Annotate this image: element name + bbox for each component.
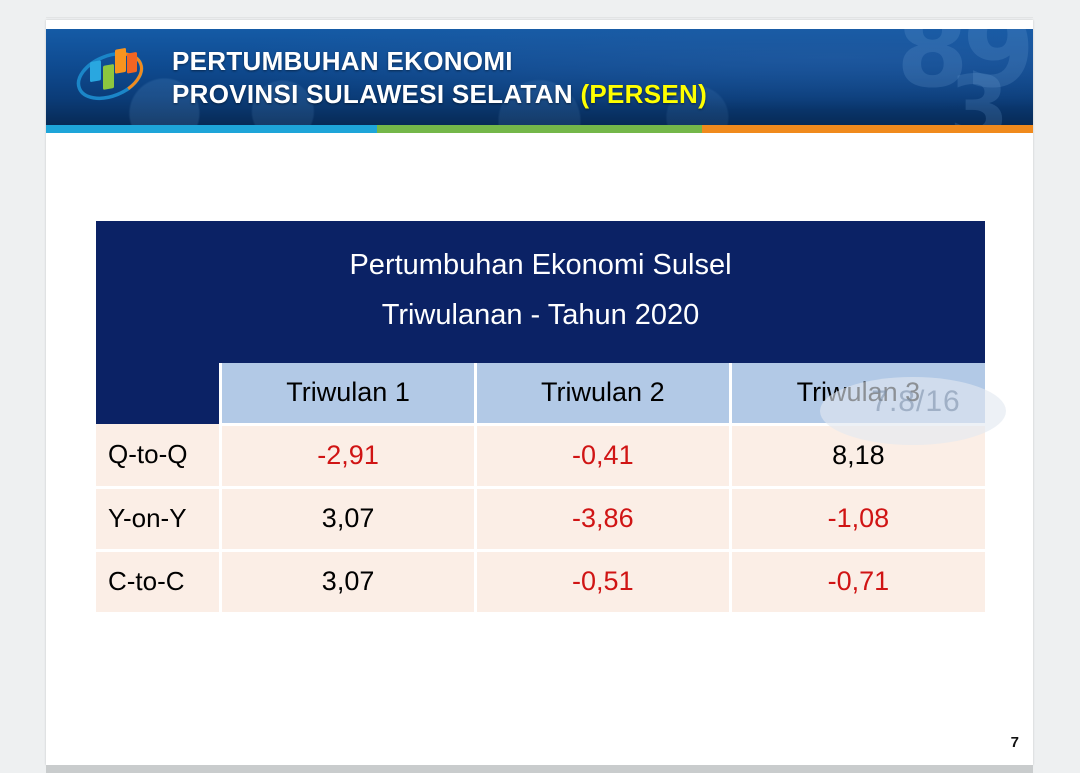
slide-viewer: 89 3 PERTUMBUHAN EKONOMI PROVINSI SULAWE… [0, 0, 1080, 773]
row-label-c-to-c: C-to-C [96, 550, 221, 613]
cell-q-to-q-triwulan-1: -2,91 [221, 424, 476, 487]
table-row: C-to-C 3,07 -0,51 -0,71 [96, 550, 985, 613]
table-corner-cell [96, 363, 221, 425]
bps-logo [74, 45, 146, 107]
row-label-q-to-q: Q-to-Q [96, 424, 221, 487]
slide-title: PERTUMBUHAN EKONOMI PROVINSI SULAWESI SE… [172, 45, 707, 112]
column-header-triwulan-3: Triwulan 3 [730, 363, 985, 425]
table-row: Q-to-Q -2,91 -0,41 8,18 [96, 424, 985, 487]
presentation-slide: 89 3 PERTUMBUHAN EKONOMI PROVINSI SULAWE… [46, 20, 1033, 765]
accent-segment-orange [702, 125, 1033, 133]
header-accent-strip [46, 125, 1033, 133]
table-title-line-2: Triwulanan - Tahun 2020 [96, 291, 985, 341]
cell-q-to-q-triwulan-2: -0,41 [475, 424, 730, 487]
table-title-row: Pertumbuhan Ekonomi Sulsel Triwulanan - … [96, 221, 985, 363]
accent-segment-green [377, 125, 703, 133]
viewer-top-strip [46, 0, 1033, 18]
slide-title-line-2: PROVINSI SULAWESI SELATAN (PERSEN) [172, 78, 707, 111]
economic-growth-table: Pertumbuhan Ekonomi Sulsel Triwulanan - … [96, 221, 985, 615]
cell-y-on-y-triwulan-2: -3,86 [475, 487, 730, 550]
slide-title-unit: (PERSEN) [580, 79, 707, 109]
cell-c-to-c-triwulan-1: 3,07 [221, 550, 476, 613]
row-label-y-on-y: Y-on-Y [96, 487, 221, 550]
table-title-line-1: Pertumbuhan Ekonomi Sulsel [96, 241, 985, 291]
page-number: 7 [1011, 734, 1019, 751]
table-row: Y-on-Y 3,07 -3,86 -1,08 [96, 487, 985, 550]
cell-c-to-c-triwulan-2: -0,51 [475, 550, 730, 613]
accent-segment-blue [46, 125, 377, 133]
table-header-row: Triwulan 1 Triwulan 2 Triwulan 3 [96, 363, 985, 425]
table-title: Pertumbuhan Ekonomi Sulsel Triwulanan - … [96, 221, 985, 363]
cell-c-to-c-triwulan-3: -0,71 [730, 550, 985, 613]
banner-background-numerals: 89 3 [896, 29, 1029, 125]
column-header-triwulan-2: Triwulan 2 [475, 363, 730, 425]
cell-y-on-y-triwulan-3: -1,08 [730, 487, 985, 550]
slide-title-line-1: PERTUMBUHAN EKONOMI [172, 45, 707, 78]
cell-y-on-y-triwulan-1: 3,07 [221, 487, 476, 550]
viewer-bottom-strip [46, 765, 1033, 773]
slide-title-line-2-text: PROVINSI SULAWESI SELATAN [172, 79, 573, 109]
slide-header-banner: 89 3 PERTUMBUHAN EKONOMI PROVINSI SULAWE… [46, 29, 1033, 125]
column-header-triwulan-1: Triwulan 1 [221, 363, 476, 425]
cell-q-to-q-triwulan-3: 8,18 [730, 424, 985, 487]
economic-growth-table-wrapper: Pertumbuhan Ekonomi Sulsel Triwulanan - … [96, 221, 985, 615]
